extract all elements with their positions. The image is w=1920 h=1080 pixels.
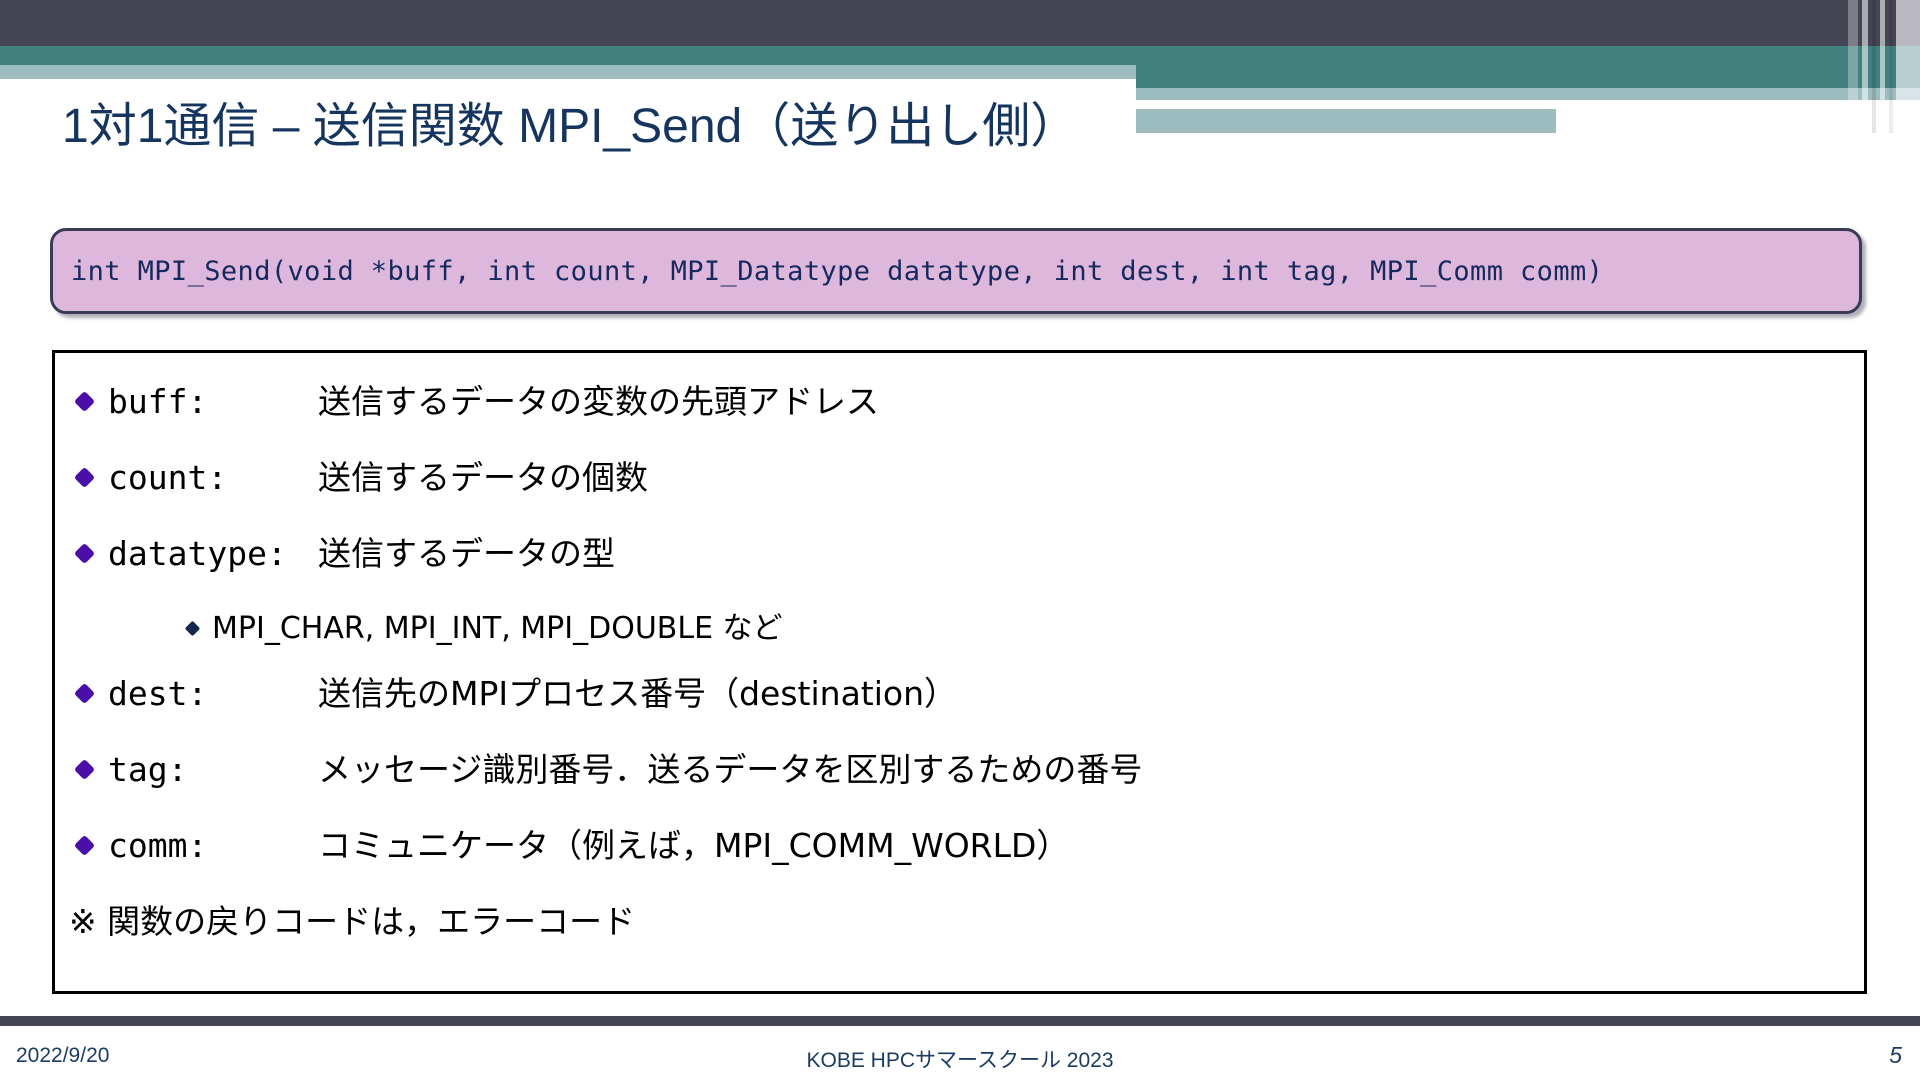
- param-description: メッセージ識別番号．送るデータを区別するための番号: [318, 743, 1864, 791]
- list-item: buff: 送信するデータの変数の先頭アドレス: [55, 375, 1864, 451]
- datatype-examples: MPI_CHAR, MPI_INT, MPI_DOUBLE など: [212, 603, 783, 647]
- parameter-description-box: buff: 送信するデータの変数の先頭アドレス count: 送信するデータの個…: [52, 350, 1867, 994]
- header-vertical-stripe-6: [1896, 0, 1920, 133]
- param-description: 送信するデータの型: [318, 527, 1864, 575]
- diamond-bullet-icon: [74, 467, 95, 488]
- header-light-band-left: [0, 65, 1136, 79]
- list-item: comm: コミュニケータ（例えば，MPI_COMM_WORLD）: [55, 819, 1864, 895]
- param-name: datatype:: [108, 534, 318, 573]
- param-name: count:: [108, 458, 318, 497]
- return-code-note: ※ 関数の戻りコードは，エラーコード: [55, 895, 1864, 965]
- list-item-sub: MPI_CHAR, MPI_INT, MPI_DOUBLE など: [55, 603, 1864, 667]
- header-vertical-stripe-1: [1848, 0, 1858, 133]
- header-vertical-stripe-2: [1862, 0, 1868, 133]
- function-signature-box: int MPI_Send(void *buff, int count, MPI_…: [50, 228, 1862, 314]
- param-name: comm:: [108, 826, 318, 865]
- list-item: dest: 送信先のMPIプロセス番号（destination）: [55, 667, 1864, 743]
- function-signature-text: int MPI_Send(void *buff, int count, MPI_…: [53, 256, 1603, 287]
- param-description: 送信するデータの個数: [318, 451, 1864, 499]
- footer-page-number: 5: [1889, 1042, 1902, 1069]
- param-name: buff:: [108, 382, 318, 421]
- diamond-bullet-icon: [74, 543, 95, 564]
- dot-bullet-icon: [185, 621, 201, 637]
- param-name: tag:: [108, 750, 318, 789]
- param-description: コミュニケータ（例えば，MPI_COMM_WORLD）: [318, 819, 1864, 867]
- return-code-note-text: ※ 関数の戻りコードは，エラーコード: [69, 895, 635, 943]
- list-item: datatype: 送信するデータの型: [55, 527, 1864, 603]
- footer-divider-bar: [0, 1016, 1920, 1026]
- param-name: dest:: [108, 674, 318, 713]
- header-dark-bar: [0, 0, 1920, 46]
- diamond-bullet-icon: [74, 683, 95, 704]
- header-vertical-stripe-5: [1889, 0, 1893, 133]
- param-description: 送信するデータの変数の先頭アドレス: [318, 375, 1864, 423]
- diamond-bullet-icon: [74, 835, 95, 856]
- slide: 1対1通信 – 送信関数 MPI_Send（送り出し側） int MPI_Sen…: [0, 0, 1920, 1080]
- list-item: count: 送信するデータの個数: [55, 451, 1864, 527]
- header-vertical-stripe-4: [1880, 0, 1885, 133]
- header-vertical-stripe-3: [1872, 0, 1876, 133]
- diamond-bullet-icon: [74, 391, 95, 412]
- list-item: tag: メッセージ識別番号．送るデータを区別するための番号: [55, 743, 1864, 819]
- diamond-bullet-icon: [74, 759, 95, 780]
- param-description: 送信先のMPIプロセス番号（destination）: [318, 667, 1864, 715]
- header-teal-band-left: [0, 46, 1136, 65]
- header-teal-band-right: [1136, 46, 1920, 88]
- page-title: 1対1通信 – 送信関数 MPI_Send（送り出し側）: [62, 96, 1562, 158]
- footer-event-name: KOBE HPCサマースクール 2023: [0, 1044, 1920, 1074]
